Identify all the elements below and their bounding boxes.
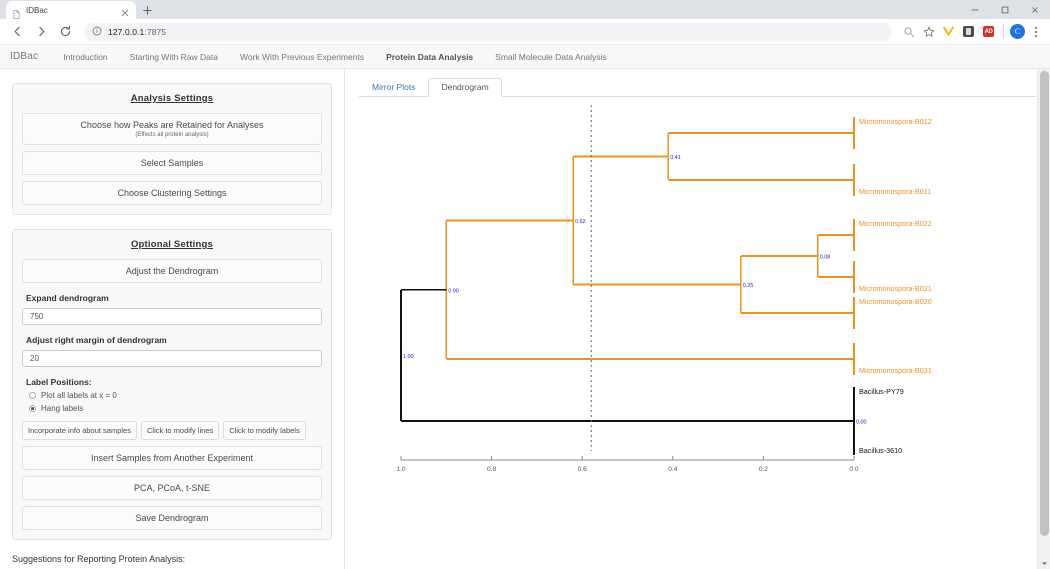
close-icon[interactable] <box>120 5 130 15</box>
pca-pcoa-tsne-button[interactable]: PCA, PCoA, t-SNE <box>22 476 322 500</box>
main-content: Mirror Plots Dendrogram 1.00.80.60.40.20… <box>345 69 1050 569</box>
analysis-settings-panel: Analysis Settings Choose how Peaks are R… <box>12 83 332 215</box>
tab-mirror-plots[interactable]: Mirror Plots <box>359 78 428 97</box>
scroll-down-arrow-icon[interactable] <box>1038 557 1050 569</box>
url-host: 127.0.0.1 <box>108 27 144 37</box>
app-brand[interactable]: IDBac <box>6 51 52 62</box>
dendrogram-node-label: 0.90 <box>448 288 459 294</box>
browser-tab-title: IDBac <box>26 6 115 15</box>
star-icon[interactable] <box>920 23 937 40</box>
dendrogram-node-label: 0.00 <box>856 420 867 426</box>
dendrogram-node-label: 0.41 <box>670 155 681 161</box>
dendrogram-leaf-label: Micromonospora-B011 <box>859 187 931 196</box>
forward-arrow-icon[interactable] <box>30 21 52 43</box>
page-icon <box>12 6 21 15</box>
page-viewport: IDBac Introduction Starting With Raw Dat… <box>0 45 1050 569</box>
dendrogram-node-label: 0.08 <box>820 255 831 261</box>
dendrogram-leaf-label: Bacillus-PY79 <box>859 387 904 396</box>
axis-tick-label: 0.2 <box>759 466 768 473</box>
url-port: :7875 <box>144 27 166 37</box>
radio-button-icon[interactable] <box>29 392 36 399</box>
select-samples-button[interactable]: Select Samples <box>22 151 322 175</box>
optional-settings-panel: Optional Settings Adjust the Dendrogram … <box>12 229 332 540</box>
extension-red-label: AD <box>985 29 993 35</box>
dendrogram-node-label: 0.62 <box>575 219 586 225</box>
page-scrollbar[interactable] <box>1037 69 1050 569</box>
suggestions-heading: Suggestions for Reporting Protein Analys… <box>12 554 332 564</box>
back-arrow-icon[interactable] <box>6 21 28 43</box>
app-navbar: IDBac Introduction Starting With Raw Dat… <box>0 45 1050 69</box>
axis-tick-label: 0.6 <box>578 466 587 473</box>
dendrogram-leaf-label: Micromonospora-B031 <box>859 366 932 375</box>
dendrogram-node-label: 0.25 <box>743 283 754 289</box>
minimize-icon[interactable] <box>960 0 990 19</box>
radio-hang-labels[interactable]: Hang labels <box>29 404 322 413</box>
dendrogram-leaf-label: Micromonospora-B012 <box>859 117 932 126</box>
browser-tab[interactable]: IDBac <box>6 1 136 19</box>
avatar[interactable]: C <box>1010 24 1025 39</box>
dendrogram-leaf-label: Micromonospora-B022 <box>859 219 932 228</box>
modify-labels-button[interactable]: Click to modify labels <box>223 421 305 440</box>
modify-buttons-row: Incorporate info about samples Click to … <box>22 421 322 440</box>
app-body: Analysis Settings Choose how Peaks are R… <box>0 69 1050 569</box>
modify-lines-button[interactable]: Click to modify lines <box>141 421 219 440</box>
window-controls <box>960 0 1050 19</box>
dendrogram-svg: 1.00.80.60.40.20.00.410.080.250.620.900.… <box>359 97 1019 497</box>
save-dendrogram-button[interactable]: Save Dendrogram <box>22 506 322 530</box>
nav-item-starting-with-raw-data[interactable]: Starting With Raw Data <box>119 45 229 69</box>
insert-samples-button[interactable]: Insert Samples from Another Experiment <box>22 446 322 470</box>
maximize-icon[interactable] <box>990 0 1020 19</box>
address-bar-url: 127.0.0.1:7875 <box>108 27 166 37</box>
info-circle-icon[interactable] <box>92 23 102 41</box>
window-close-icon[interactable] <box>1020 0 1050 19</box>
analysis-settings-title: Analysis Settings <box>22 93 322 104</box>
radio-button-selected-icon[interactable] <box>29 405 36 412</box>
expand-dendrogram-label: Expand dendrogram <box>26 293 322 303</box>
search-icon[interactable] <box>900 23 917 40</box>
axis-tick-label: 0.0 <box>849 466 858 473</box>
browser-tab-strip: IDBac <box>0 0 1050 19</box>
choose-peaks-retained-label: Choose how Peaks are Retained for Analys… <box>27 120 317 130</box>
address-bar[interactable]: 127.0.0.1:7875 <box>84 23 892 41</box>
expand-dendrogram-input[interactable]: 750 <box>22 308 322 325</box>
dendrogram-leaf-label: Micromonospora-B021 <box>859 284 932 293</box>
browser-window: IDBac <box>0 0 1050 569</box>
extension-red-icon[interactable]: AD <box>980 23 997 40</box>
dendrogram-leaf-label: Micromonospora-B020 <box>859 297 932 306</box>
kebab-menu-icon[interactable] <box>1028 27 1044 37</box>
nav-item-introduction[interactable]: Introduction <box>52 45 118 69</box>
optional-settings-title: Optional Settings <box>22 239 322 250</box>
new-tab-button[interactable] <box>136 1 158 19</box>
label-positions-label: Label Positions: <box>26 377 322 387</box>
toolbar-divider <box>1003 25 1004 38</box>
radio-plot-all-labels-text: Plot all labels at x = 0 <box>41 391 117 400</box>
reload-icon[interactable] <box>54 21 76 43</box>
browser-toolbar: 127.0.0.1:7875 AD C <box>0 19 1050 45</box>
sidebar: Analysis Settings Choose how Peaks are R… <box>0 69 345 569</box>
tab-dendrogram[interactable]: Dendrogram <box>428 78 501 97</box>
toolbar-right-group: AD C <box>900 23 1044 40</box>
nav-item-work-with-previous-experiments[interactable]: Work With Previous Experiments <box>229 45 375 69</box>
plot-tabs: Mirror Plots Dendrogram <box>359 77 1036 97</box>
incorporate-info-button[interactable]: Incorporate info about samples <box>22 421 137 440</box>
dendrogram-node-label: 1.00 <box>403 354 414 360</box>
choose-peaks-retained-button[interactable]: Choose how Peaks are Retained for Analys… <box>22 113 322 145</box>
dendrogram-plot: 1.00.80.60.40.20.00.410.080.250.620.900.… <box>359 97 1036 567</box>
nav-item-protein-data-analysis[interactable]: Protein Data Analysis <box>375 45 484 69</box>
right-margin-label: Adjust right margin of dendrogram <box>26 335 322 345</box>
axis-tick-label: 1.0 <box>396 466 405 473</box>
extension-dark-icon[interactable] <box>960 23 977 40</box>
page-scrollbar-thumb[interactable] <box>1040 71 1049 536</box>
adjust-the-dendrogram-button[interactable]: Adjust the Dendrogram <box>22 259 322 283</box>
choose-clustering-settings-button[interactable]: Choose Clustering Settings <box>22 181 322 205</box>
plus-icon <box>142 5 153 16</box>
axis-tick-label: 0.8 <box>487 466 496 473</box>
radio-hang-labels-text: Hang labels <box>41 404 83 413</box>
axis-tick-label: 0.4 <box>668 466 677 473</box>
nav-item-small-molecule-data-analysis[interactable]: Small Molecule Data Analysis <box>484 45 618 69</box>
extension-v-icon[interactable] <box>940 23 957 40</box>
radio-plot-all-labels[interactable]: Plot all labels at x = 0 <box>29 391 322 400</box>
right-margin-input[interactable]: 20 <box>22 350 322 367</box>
dendrogram-leaf-label: Bacillus-3610 <box>859 446 902 455</box>
choose-peaks-retained-sublabel: (Effects all protein analysis) <box>27 132 317 138</box>
